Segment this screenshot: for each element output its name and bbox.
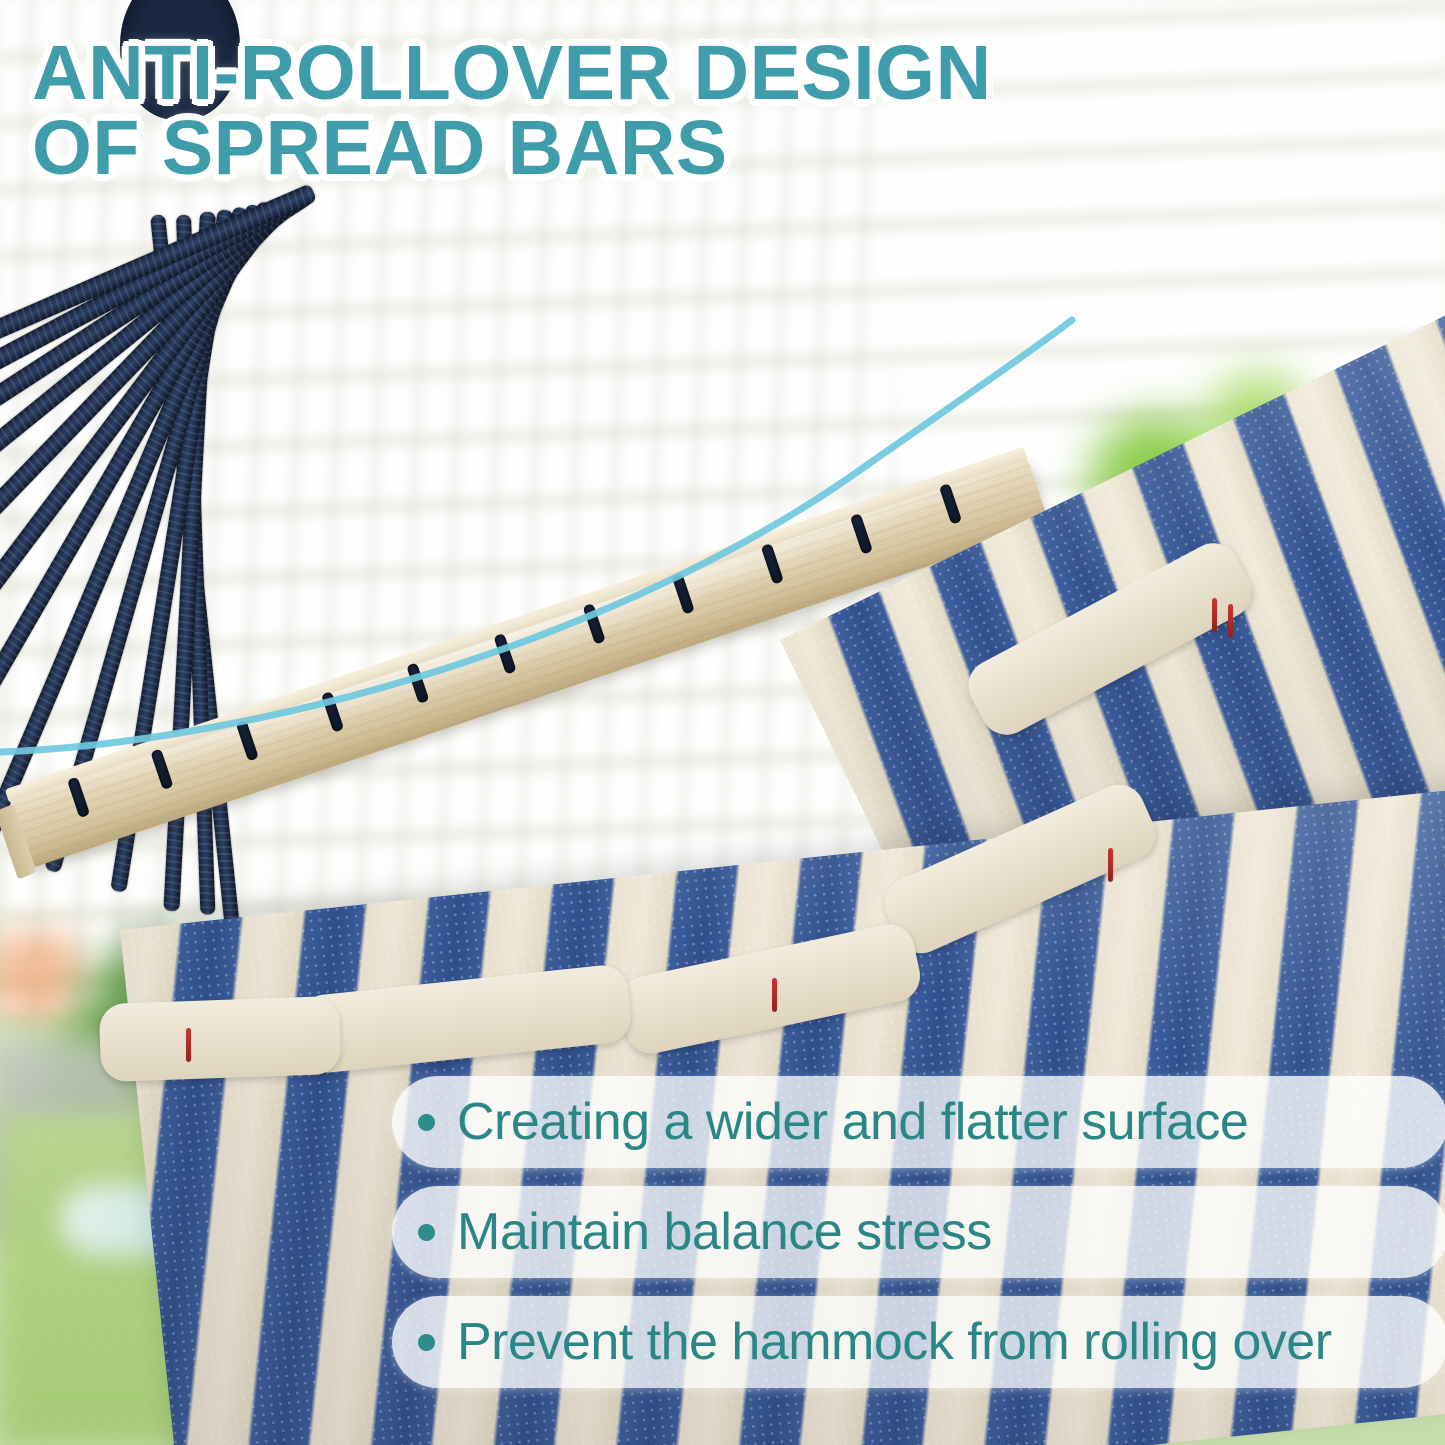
spread-bar-highlight	[9, 459, 1050, 868]
wooden-spread-bar	[20, 470, 1120, 940]
product-feature-image: ANTI-ROLLOVER DESIGN OF SPREAD BARS Crea…	[0, 0, 1445, 1445]
bullet-dot-icon	[418, 1334, 435, 1351]
feature-item: Maintain balance stress	[392, 1186, 1445, 1278]
feature-label: Creating a wider and flatter surface	[457, 1092, 1248, 1152]
bullet-dot-icon	[418, 1114, 435, 1131]
feature-item: Creating a wider and flatter surface	[392, 1076, 1445, 1168]
feature-item: Prevent the hammock from rolling over	[392, 1296, 1445, 1388]
bullet-dot-icon	[418, 1224, 435, 1241]
feature-list: Creating a wider and flatter surface Mai…	[392, 1076, 1422, 1388]
headline-line-1: ANTI-ROLLOVER DESIGN	[32, 36, 1212, 111]
page-title: ANTI-ROLLOVER DESIGN OF SPREAD BARS	[32, 36, 1212, 185]
feature-label: Maintain balance stress	[457, 1202, 992, 1262]
spread-bar-body	[9, 459, 1050, 868]
feature-label: Prevent the hammock from rolling over	[457, 1312, 1332, 1372]
headline-line-2: OF SPREAD BARS	[32, 111, 1212, 186]
